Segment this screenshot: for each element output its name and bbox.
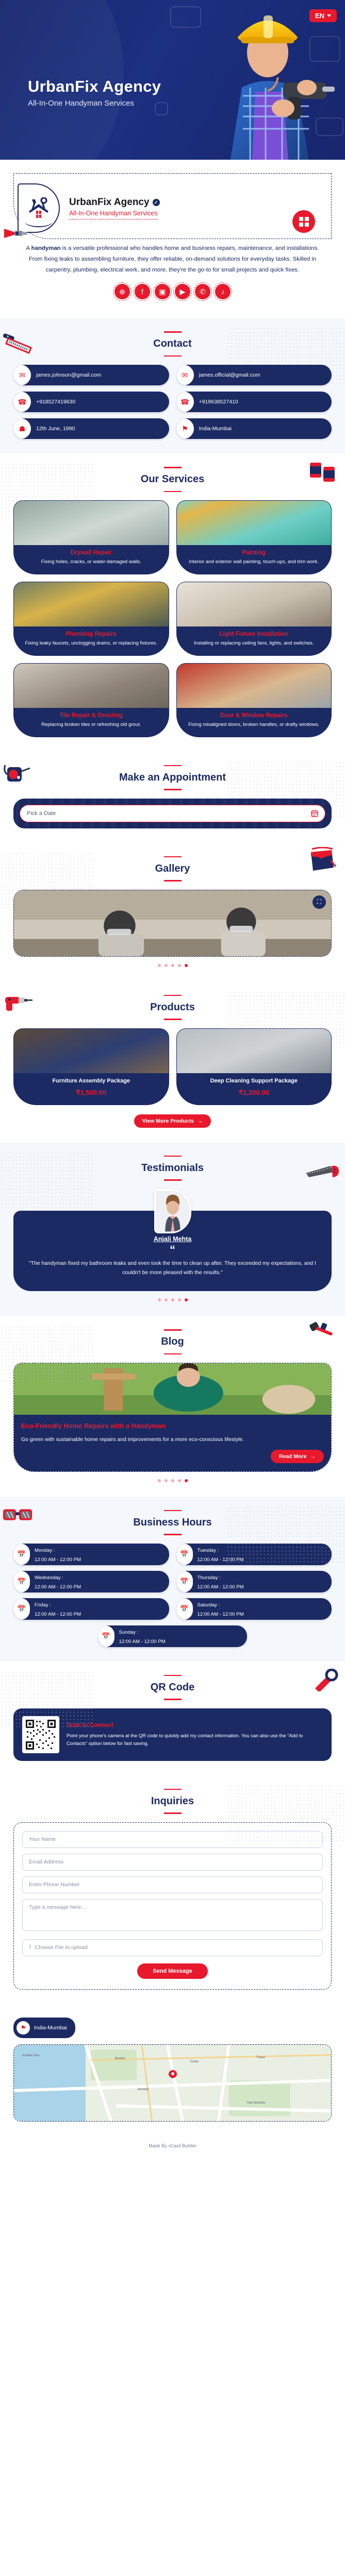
product-name: Furniture Assembly Package	[20, 1078, 163, 1084]
hero-text-block: UrbanFix Agency All-In-One Handyman Serv…	[28, 77, 161, 108]
carousel-dot[interactable]	[171, 964, 174, 967]
products-title: Products	[13, 995, 332, 1020]
upload-icon: ⤒	[29, 1944, 31, 1951]
calendar-clock-icon: 📅	[13, 1571, 30, 1592]
hours-day: Wednesday :	[35, 1575, 63, 1581]
service-card[interactable]: Painting Interior and exterior wall pain…	[176, 500, 332, 574]
contact-item-email-1[interactable]: ✉ james.johnson@gmail.com	[13, 365, 169, 385]
service-card[interactable]: Tile Repair & Grouting Replacing broken …	[13, 663, 169, 737]
carousel-dot[interactable]	[178, 1298, 181, 1301]
contact-title: Contact	[13, 331, 332, 357]
service-thumbnail	[177, 582, 332, 626]
phone-icon: ☎	[176, 392, 194, 412]
contact-value: james.official@gmail.com	[199, 372, 260, 378]
service-thumbnail	[14, 582, 169, 626]
social-youtube-icon[interactable]: ▶	[175, 284, 190, 299]
gallery-title: Gallery	[13, 856, 332, 882]
testimonial-carousel-dots	[13, 1298, 332, 1301]
services-grid: Drywall Repair Fixing holes, cracks, or …	[13, 500, 332, 737]
youtube-icon: ▶	[180, 287, 186, 296]
social-tiktok-icon[interactable]: ♪	[215, 284, 231, 299]
service-name: Drywall Repair	[20, 550, 163, 556]
service-card[interactable]: Light Fixture Installation Installing or…	[176, 582, 332, 656]
hours-day: Sunday :	[119, 1630, 139, 1635]
brand-name: UrbanFix Agency	[69, 197, 150, 208]
file-upload-field[interactable]: ⤒ Choose File to upload	[22, 1939, 323, 1956]
qr-title: QR Code	[13, 1675, 332, 1700]
contact-list: ✉ james.johnson@gmail.com ✉ james.offici…	[13, 365, 332, 439]
hours-row-saturday: 📅 Saturday : 12:00 AM - 12:00 PM	[176, 1598, 332, 1620]
service-thumbnail	[14, 664, 169, 708]
phone-input[interactable]	[22, 1876, 323, 1893]
file-upload-label: Choose File to upload	[35, 1944, 88, 1951]
map-label: Mumbai	[138, 2088, 149, 2091]
arrow-right-icon: →	[198, 1118, 203, 1124]
calendar-clock-icon: 📅	[176, 1571, 193, 1592]
carousel-dot-active[interactable]	[185, 964, 188, 967]
contact-item-phone-1[interactable]: ☎ +918527419630	[13, 392, 169, 412]
website-icon: ⊕	[119, 287, 125, 296]
service-description: Replacing broken tiles or refreshing old…	[20, 721, 163, 729]
service-name: Door & Window Repairs	[183, 713, 326, 719]
map-label: Arabian Sea	[22, 2054, 39, 2057]
send-message-button[interactable]: Send Message	[137, 1963, 207, 1979]
map-illustration	[14, 2045, 331, 2121]
blog-carousel-dots	[13, 1479, 332, 1482]
carousel-dot[interactable]	[165, 964, 168, 967]
contact-value: 12th June, 1990	[36, 426, 75, 432]
product-price: ₹1,500.00	[20, 1089, 163, 1097]
service-name: Plumbing Repairs	[20, 631, 163, 637]
location-pin-icon: ⚑	[176, 418, 194, 439]
calendar-clock-icon: 📅	[13, 1544, 30, 1565]
hero-banner: EN UrbanFix Agency All-In-One Handyman S…	[0, 0, 345, 160]
vcard-page: EN UrbanFix Agency All-In-One Handyman S…	[0, 0, 345, 2158]
hero-handyman-photo	[206, 5, 335, 160]
brand-tagline: All-In-One Handyman Services	[69, 210, 158, 219]
map-marker-icon	[169, 2070, 177, 2078]
hours-day: Friday :	[35, 1602, 51, 1608]
appointment-box: Pick a Date	[13, 799, 332, 828]
message-textarea[interactable]	[22, 1899, 323, 1931]
email-input[interactable]	[22, 1854, 323, 1871]
footer: Made By vCard Builder	[0, 2136, 345, 2158]
inquiry-form: ⤒ Choose File to upload Send Message	[13, 1822, 332, 1990]
contact-value: India-Mumbai	[199, 426, 232, 432]
service-card[interactable]: Plumbing Repairs Fixing leaky faucets, u…	[13, 582, 169, 656]
verified-badge-icon: ✓	[153, 199, 160, 206]
service-thumbnail	[14, 501, 169, 545]
service-thumbnail	[177, 501, 332, 545]
tiktok-icon: ♪	[221, 287, 225, 296]
service-name: Tile Repair & Grouting	[20, 713, 163, 719]
quote-mark-icon: “	[24, 1245, 321, 1255]
facebook-icon: f	[141, 287, 143, 296]
contact-value: james.johnson@gmail.com	[36, 372, 101, 378]
service-description: Installing or replacing ceiling fans, li…	[183, 640, 326, 648]
hours-time: 12:00 AM - 12:00 PM	[119, 1639, 166, 1645]
product-card[interactable]: Furniture Assembly Package ₹1,500.00	[13, 1028, 169, 1105]
products-grid: Furniture Assembly Package ₹1,500.00 Dee…	[13, 1028, 332, 1105]
business-hours-last-row: 📅 Sunday : 12:00 AM - 12:00 PM	[13, 1625, 332, 1647]
expand-gallery-button[interactable]: ⛶	[313, 895, 326, 909]
hours-row-monday: 📅 Monday : 12:00 AM - 12:00 PM	[13, 1544, 169, 1565]
map-label: Dadar	[190, 2060, 199, 2063]
social-whatsapp-icon[interactable]: ✆	[195, 284, 210, 299]
brand-block: UrbanFix Agency ✓ All-In-One Handyman Se…	[69, 197, 160, 219]
testimonials-title: Testimonials	[13, 1156, 332, 1181]
instagram-icon: ▣	[159, 287, 166, 296]
carousel-dot[interactable]	[158, 1298, 161, 1301]
map-location-pill[interactable]: ⚑ India-Mumbai	[13, 2018, 75, 2038]
whatsapp-icon: ✆	[200, 287, 206, 296]
business-hours-title: Business Hours	[13, 1510, 332, 1535]
contact-value: +918527419630	[36, 399, 75, 405]
service-thumbnail	[177, 664, 332, 708]
hours-day: Monday :	[35, 1548, 55, 1553]
carousel-dot[interactable]	[171, 1298, 174, 1301]
products-section: Products Furniture Assembly Package ₹1,5…	[0, 981, 345, 1142]
contact-item-location[interactable]: ⚑ India-Mumbai	[176, 418, 332, 439]
expand-icon: ⛶	[317, 898, 321, 906]
service-name: Light Fixture Installation	[183, 631, 326, 637]
carousel-dot[interactable]	[171, 1479, 174, 1482]
blog-section: Blog Eco-Friendly Home Repairs with a Ha…	[0, 1316, 345, 1497]
map-label: Navi Mumbai	[247, 2102, 265, 2105]
qr-description: Point your phone's camera at the QR code…	[67, 1732, 323, 1747]
appointment-section: Make an Appointment Pick a Date	[0, 752, 345, 843]
hero-subtitle: All-In-One Handyman Services	[28, 99, 161, 108]
gallery-carousel-dots	[13, 964, 332, 967]
blog-post-title: Eco-Friendly Home Repairs with a Handyma…	[21, 1422, 324, 1430]
services-title: Our Services	[13, 467, 332, 492]
profile-header: UrbanFix Agency ✓ All-In-One Handyman Se…	[13, 178, 332, 236]
testimonials-section: Testimonials Anjali Mehta “ "The handyma…	[0, 1142, 345, 1316]
testimonial-avatar	[154, 1189, 191, 1233]
avatar-illustration	[156, 1191, 190, 1232]
map-embed[interactable]: Arabian Sea Bandra Mumbai Dadar Thane Na…	[13, 2044, 332, 2122]
gallery-photo-illustration	[14, 890, 331, 956]
contact-item-email-2[interactable]: ✉ james.official@gmail.com	[176, 365, 332, 385]
qr-section: QR Code	[0, 1662, 345, 1775]
service-description: Fixing leaky faucets, unclogging drains,…	[20, 640, 163, 648]
about-prefix: A	[26, 245, 31, 251]
birthday-cake-icon: ☗	[13, 418, 31, 439]
hours-row-thursday: 📅 Thursday : 12:00 AM - 12:00 PM	[176, 1571, 332, 1592]
hours-time: 12:00 AM - 12:00 PM	[198, 1584, 244, 1590]
read-more-button[interactable]: Read More →	[271, 1450, 324, 1463]
testimonial-text: "The handyman fixed my bathroom leaks an…	[24, 1259, 321, 1278]
product-thumbnail	[177, 1029, 332, 1073]
calendar-clock-icon: 📅	[13, 1598, 30, 1620]
inquiries-title: Inquiries	[13, 1789, 332, 1814]
hours-time: 12:00 AM - 12:00 PM	[35, 1584, 81, 1590]
carousel-dot-active[interactable]	[185, 1298, 188, 1301]
product-card[interactable]: Deep Cleaning Support Package ₹1,200.00	[176, 1028, 332, 1105]
blog-title: Blog	[13, 1329, 332, 1354]
hours-row-wednesday: 📅 Wednesday : 12:00 AM - 12:00 PM	[13, 1571, 169, 1592]
carousel-dot[interactable]	[165, 1479, 168, 1482]
brand-name-row: UrbanFix Agency ✓	[69, 197, 160, 208]
service-description: Fixing holes, cracks, or water-damaged w…	[20, 558, 163, 566]
read-more-label: Read More	[279, 1453, 307, 1460]
services-section: Our Services Drywall Repair Fixing holes…	[0, 453, 345, 752]
location-pin-icon: ⚑	[17, 2021, 30, 2035]
appointment-title: Make an Appointment	[13, 765, 332, 790]
qr-text-block: Scan to Connect Point your phone's camer…	[67, 1722, 323, 1747]
view-more-label: View More Products	[142, 1118, 194, 1124]
social-links: ⊕ f ▣ ▶ ✆ ♪	[13, 276, 332, 311]
phone-icon: ☎	[13, 392, 31, 412]
about-highlight: handyman	[31, 245, 61, 251]
social-facebook-icon[interactable]: f	[135, 284, 150, 299]
arrow-right-icon: →	[310, 1453, 316, 1460]
hours-time: 12:00 AM - 12:00 PM	[198, 1612, 244, 1617]
business-hours-section: Business Hours 📅 Monday : 12:00 AM - 12:…	[0, 1497, 345, 1662]
calendar-icon	[311, 810, 318, 817]
social-instagram-icon[interactable]: ▣	[155, 284, 170, 299]
carousel-dot[interactable]	[178, 964, 181, 967]
hours-row-sunday: 📅 Sunday : 12:00 AM - 12:00 PM	[98, 1625, 248, 1647]
service-card[interactable]: Door & Window Repairs Fixing misaligned …	[176, 663, 332, 737]
testimonial-author: Anjali Mehta	[24, 1235, 321, 1243]
qr-grid-icon	[299, 217, 309, 227]
calendar-clock-icon: 📅	[176, 1544, 193, 1565]
hours-day: Thursday :	[198, 1575, 221, 1581]
email-icon: ✉	[176, 365, 194, 385]
map-label: Bandra	[115, 2057, 125, 2060]
testimonial-card-wrapper: Anjali Mehta “ "The handyman fixed my ba…	[13, 1189, 332, 1291]
product-price: ₹1,200.00	[183, 1089, 326, 1097]
map-label: Thane	[256, 2056, 265, 2059]
carousel-dot[interactable]	[158, 964, 161, 967]
gallery-image[interactable]: ⛶	[13, 890, 332, 957]
view-more-products-button[interactable]: View More Products →	[134, 1114, 211, 1128]
gallery-section: Gallery ⛶	[0, 843, 345, 981]
about-rest: is a versatile professional who handles …	[29, 245, 319, 273]
about-paragraph: A handyman is a versatile professional w…	[13, 236, 332, 276]
calendar-clock-icon: 📅	[176, 1598, 193, 1620]
hours-time: 12:00 AM - 12:00 PM	[35, 1612, 81, 1617]
service-name: Painting	[183, 550, 326, 556]
hours-day: Tuesday :	[198, 1548, 219, 1553]
contact-value: +919638527410	[199, 399, 238, 405]
cog-decoration	[170, 6, 201, 28]
contact-item-birthday[interactable]: ☗ 12th June, 1990	[13, 418, 169, 439]
carousel-dot[interactable]	[178, 1479, 181, 1482]
service-description: Interior and exterior wall painting, tou…	[183, 558, 326, 566]
calendar-clock-icon: 📅	[98, 1625, 114, 1647]
social-website-icon[interactable]: ⊕	[114, 284, 130, 299]
email-icon: ✉	[13, 365, 31, 385]
map-location-label: India-Mumbai	[34, 2025, 67, 2031]
product-name: Deep Cleaning Support Package	[183, 1078, 326, 1084]
date-picker-input[interactable]: Pick a Date	[20, 805, 325, 822]
hours-day: Saturday :	[198, 1602, 220, 1608]
hero-title: UrbanFix Agency	[28, 77, 161, 96]
date-placeholder: Pick a Date	[27, 810, 311, 817]
carousel-dot[interactable]	[165, 1298, 168, 1301]
hours-row-friday: 📅 Friday : 12:00 AM - 12:00 PM	[13, 1598, 169, 1620]
hours-time: 12:00 AM - 12:00 PM	[35, 1557, 81, 1563]
contact-section: Contact ✉ james.johnson@gmail.com ✉ jame…	[0, 318, 345, 453]
blog-post-description: Go green with sustainable home repairs a…	[21, 1435, 324, 1445]
qr-heading: Scan to Connect	[67, 1722, 323, 1728]
inquiries-section: Inquiries ⤒ Choose File to upload Send M…	[0, 1775, 345, 2004]
qr-code-shortcut-button[interactable]	[292, 210, 315, 233]
service-description: Fixing misaligned doors, broken handles,…	[183, 721, 326, 729]
carousel-dot[interactable]	[158, 1479, 161, 1482]
contact-item-phone-2[interactable]: ☎ +919638527410	[176, 392, 332, 412]
profile-section: UrbanFix Agency ✓ All-In-One Handyman Se…	[0, 160, 345, 318]
product-thumbnail	[14, 1029, 169, 1073]
service-card[interactable]: Drywall Repair Fixing holes, cracks, or …	[13, 500, 169, 574]
map-section: ⚑ India-Mumbai	[0, 2004, 345, 2136]
carousel-dot-active[interactable]	[185, 1479, 188, 1482]
